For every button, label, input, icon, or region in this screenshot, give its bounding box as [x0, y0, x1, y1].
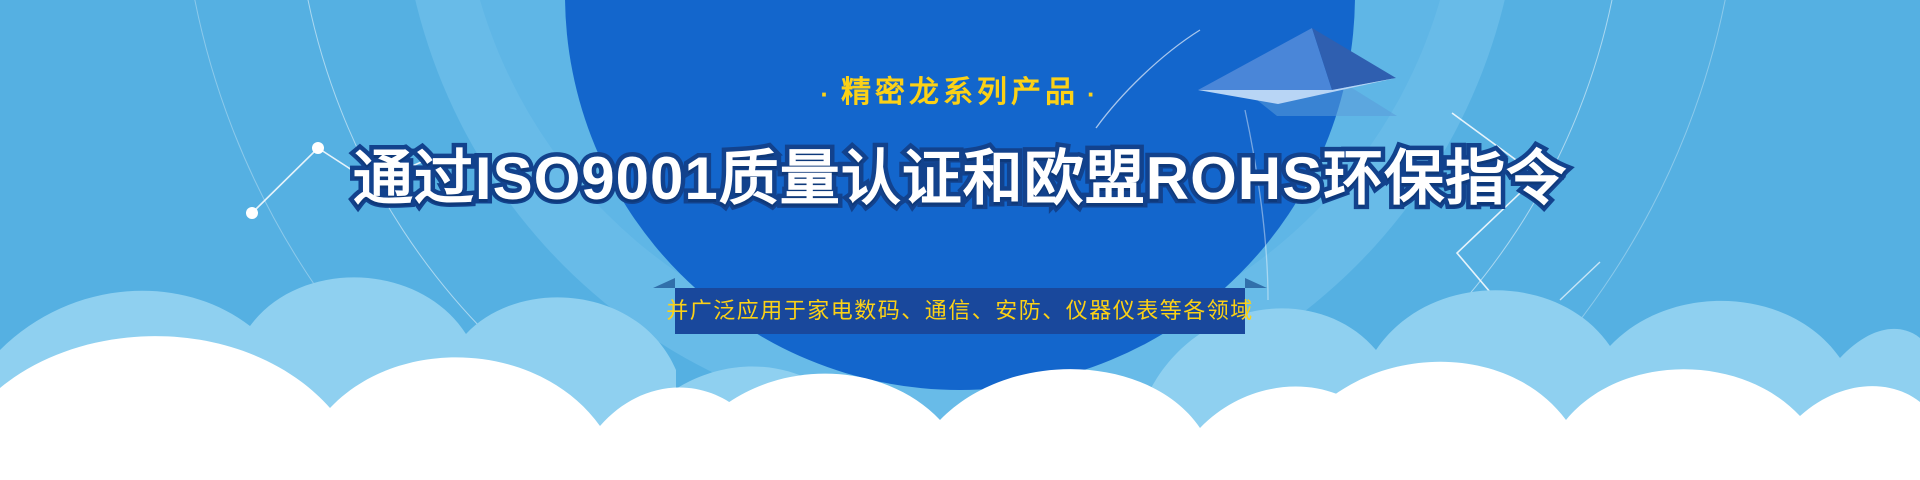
eyebrow-dot-left: ·: [820, 79, 833, 109]
eyebrow-dot-right: ·: [1087, 79, 1100, 109]
ribbon-body: 并广泛应用于家电数码、通信、安防、仪器仪表等各领域: [675, 288, 1245, 334]
banner-content: ·精密龙系列产品· 通过ISO9001质量认证和欧盟ROHS环保指令 并广泛应用…: [0, 0, 1920, 480]
ribbon-fold-right: [1245, 278, 1267, 288]
ribbon-fold-left: [653, 278, 675, 288]
ribbon-text: 并广泛应用于家电数码、通信、安防、仪器仪表等各领域: [666, 300, 1254, 322]
banner-headline: 通过ISO9001质量认证和欧盟ROHS环保指令: [0, 146, 1920, 212]
banner-eyebrow: ·精密龙系列产品·: [0, 78, 1920, 108]
banner-ribbon: 并广泛应用于家电数码、通信、安防、仪器仪表等各领域: [675, 288, 1245, 334]
promo-banner: ·精密龙系列产品· 通过ISO9001质量认证和欧盟ROHS环保指令 并广泛应用…: [0, 0, 1920, 480]
eyebrow-text: 精密龙系列产品: [841, 76, 1079, 109]
